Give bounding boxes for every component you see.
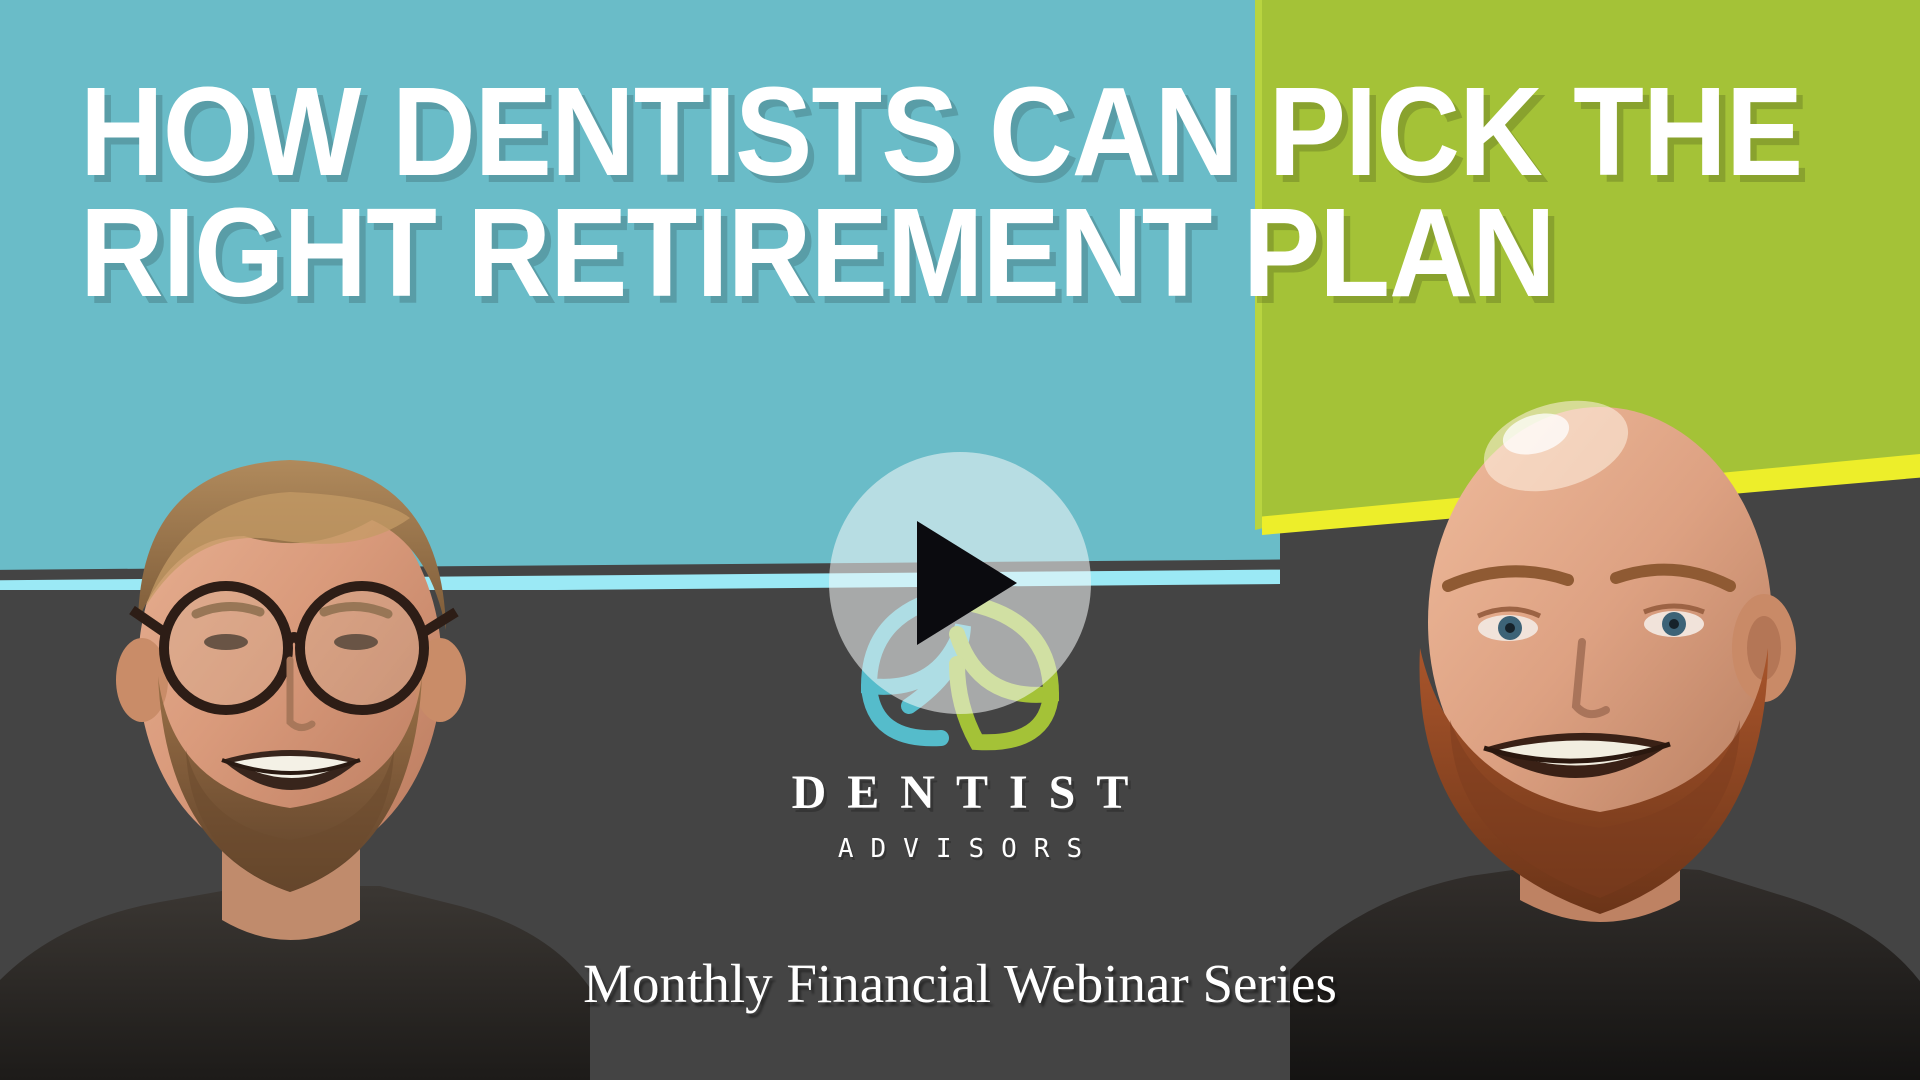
brand-subtitle: ADVISORS xyxy=(745,834,1175,864)
video-title-line-1: HOW DENTISTS CAN PICK THE xyxy=(80,72,1736,193)
series-tagline: Monthly Financial Webinar Series xyxy=(583,952,1337,1015)
video-thumbnail[interactable]: HOW DENTISTS CAN PICK THE RIGHT RETIREME… xyxy=(0,0,1920,1080)
play-button[interactable] xyxy=(829,452,1091,714)
brand-name: DENTIST xyxy=(745,765,1175,820)
play-triangle-icon xyxy=(917,521,1017,645)
video-title: HOW DENTISTS CAN PICK THE RIGHT RETIREME… xyxy=(80,72,1880,314)
video-title-line-2: RIGHT RETIREMENT PLAN xyxy=(80,193,1736,314)
